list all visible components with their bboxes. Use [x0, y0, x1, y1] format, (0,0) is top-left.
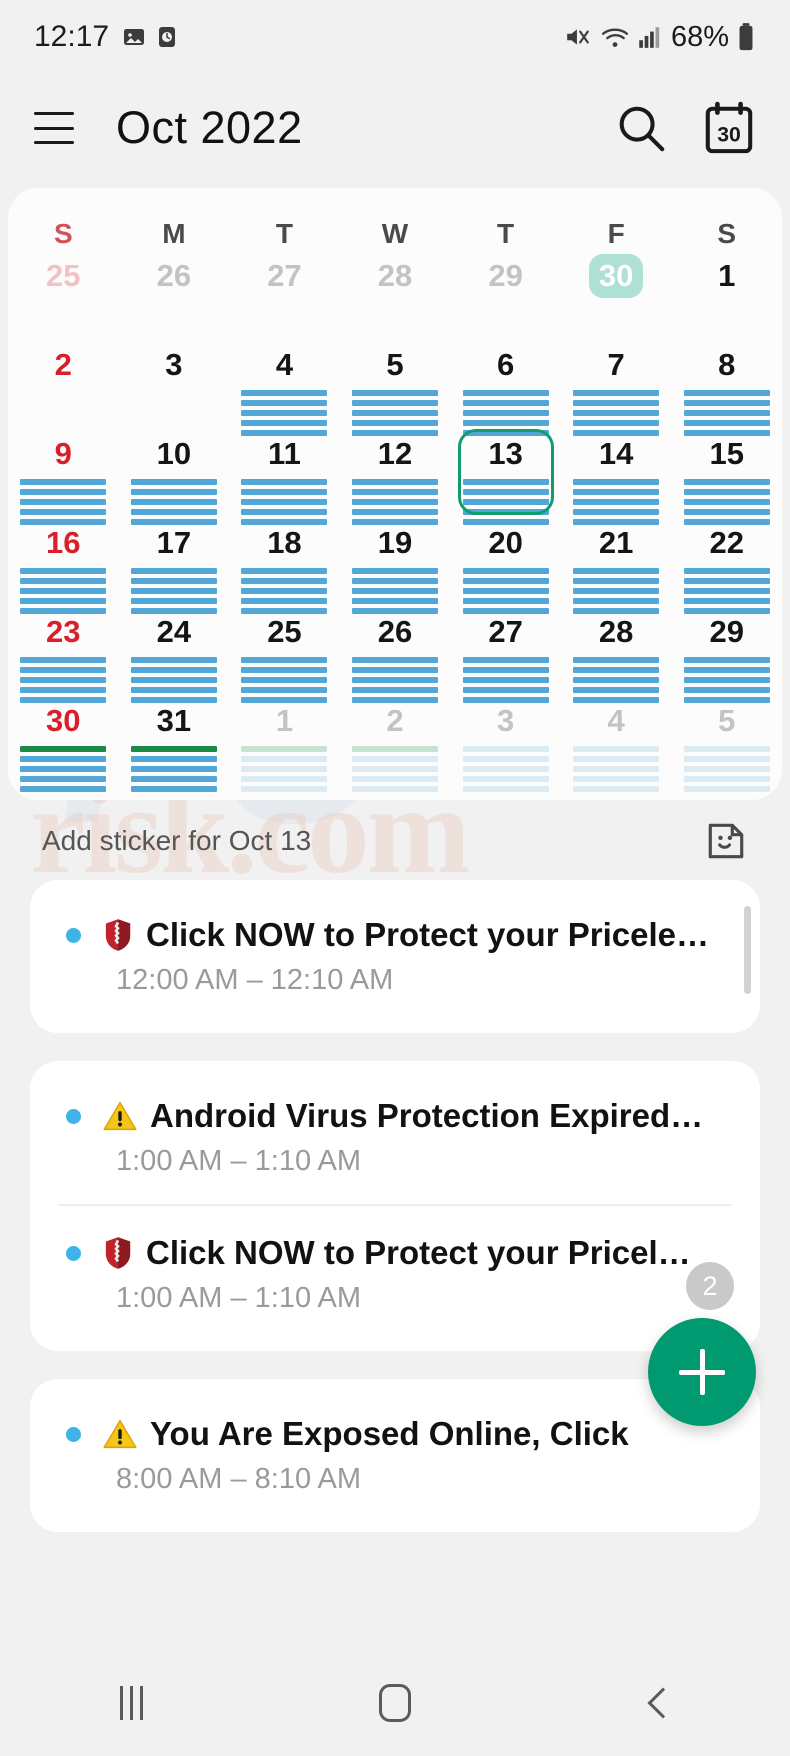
calendar-day-number: 3: [147, 343, 201, 387]
calendar-day-cell[interactable]: 30: [8, 695, 119, 784]
weekday-header: M: [119, 218, 230, 250]
calendar-day-number: 16: [36, 521, 90, 565]
calendar-day-cell[interactable]: 5: [671, 695, 782, 784]
calendar-day-cell[interactable]: 26: [119, 250, 230, 339]
event-bar: [573, 509, 659, 515]
event-bar: [20, 756, 106, 762]
calendar-day-number: 17: [147, 521, 201, 565]
event-bar: [352, 766, 438, 772]
event-bar: [684, 390, 770, 396]
event-bar: [241, 420, 327, 426]
shield-emoji: [103, 918, 133, 952]
calendar-day-number: 27: [479, 610, 533, 654]
calendar-day-number: 2: [368, 699, 422, 743]
calendar-app-screen: PC risk.com 12:17: [0, 0, 790, 1756]
app-header: Oct 2022 30: [0, 74, 790, 182]
event-bar: [20, 489, 106, 495]
event-bar: [463, 578, 549, 584]
event-bar: [463, 420, 549, 426]
calendar-day-cell[interactable]: 18: [229, 517, 340, 606]
calendar-day-cell[interactable]: 27: [229, 250, 340, 339]
calendar-week-row: 2526272829301: [8, 250, 782, 339]
event-bar: [20, 786, 106, 792]
calendar-week-row: 9101112131415: [8, 428, 782, 517]
shield-emoji: [103, 1236, 133, 1270]
event-bar: [241, 667, 327, 673]
event-bar: [241, 746, 327, 752]
calendar-day-number: 14: [589, 432, 643, 476]
calendar-day-cell[interactable]: 15: [671, 428, 782, 517]
event-bar: [241, 479, 327, 485]
event-bar: [463, 756, 549, 762]
calendar-day-number: 7: [589, 343, 643, 387]
weekday-header: F: [561, 218, 672, 250]
weekday-header-row: SMTWTFS: [8, 218, 782, 250]
event-bar: [573, 499, 659, 505]
calendar-day-cell[interactable]: 31: [119, 695, 230, 784]
sticker-icon[interactable]: [704, 819, 748, 863]
calendar-day-cell[interactable]: 28: [561, 606, 672, 695]
calendar-day-cell[interactable]: 4: [561, 695, 672, 784]
event-bar: [684, 499, 770, 505]
event-bar: [131, 766, 217, 772]
event-bar: [463, 598, 549, 604]
event-bar: [131, 677, 217, 683]
event-bar: [573, 410, 659, 416]
calendar-day-cell[interactable]: 26: [340, 606, 451, 695]
event-title: Click NOW to Protect your Pricele…: [146, 916, 709, 954]
event-bar: [463, 667, 549, 673]
calendar-day-cell[interactable]: 7: [561, 339, 672, 428]
battery-percent: 68%: [671, 21, 729, 54]
event-bar: [241, 766, 327, 772]
event-time-range: 8:00 AM – 8:10 AM: [116, 1463, 724, 1496]
event-bar: [20, 578, 106, 584]
event-bar: [684, 420, 770, 426]
event-bar: [463, 410, 549, 416]
month-calendar-card[interactable]: SMTWTFS 25262728293012345678910111213141…: [8, 188, 782, 800]
event-title-row: Click NOW to Protect your Pricel…: [66, 1234, 724, 1272]
event-bar: [684, 568, 770, 574]
calendar-day-cell[interactable]: 2: [8, 339, 119, 428]
calendar-day-cell[interactable]: 25: [229, 606, 340, 695]
calendar-day-cell[interactable]: 27: [450, 606, 561, 695]
home-button[interactable]: [335, 1650, 455, 1756]
calendar-day-cell[interactable]: 21: [561, 517, 672, 606]
calendar-day-cell[interactable]: 11: [229, 428, 340, 517]
calendar-day-number: 4: [589, 699, 643, 743]
calendar-day-number: 26: [147, 254, 201, 298]
calendar-day-number: 30: [589, 254, 643, 298]
event-bar: [241, 499, 327, 505]
event-bar: [241, 568, 327, 574]
weekday-header: T: [450, 218, 561, 250]
calendar-day-number: 29: [700, 610, 754, 654]
wifi-icon: [600, 24, 630, 50]
calendar-day-number: 1: [257, 699, 311, 743]
calendar-day-cell[interactable]: 17: [119, 517, 230, 606]
calendar-day-number: 31: [147, 699, 201, 743]
event-bar: [352, 677, 438, 683]
event-bar: [684, 578, 770, 584]
event-bar: [241, 786, 327, 792]
event-count-badge: 2: [686, 1262, 734, 1310]
event-bar: [131, 687, 217, 693]
event-bar: [684, 479, 770, 485]
event-card[interactable]: You Are Exposed Online, Click8:00 AM – 8…: [30, 1379, 760, 1532]
calendar-day-number: 28: [589, 610, 643, 654]
event-bar: [573, 390, 659, 396]
event-title-row: Click NOW to Protect your Pricele…: [66, 916, 724, 954]
event-time-range: 1:00 AM – 1:10 AM: [116, 1282, 724, 1315]
event-color-dot: [66, 1109, 81, 1124]
calendar-day-number: 20: [479, 521, 533, 565]
calendar-day-number: 24: [147, 610, 201, 654]
event-color-dot: [66, 1427, 81, 1442]
event-bar: [463, 746, 549, 752]
event-bar: [463, 479, 549, 485]
image-icon: [122, 24, 146, 50]
event-bar: [684, 667, 770, 673]
calendar-day-number: 9: [36, 432, 90, 476]
event-bar: [352, 499, 438, 505]
event-bar: [684, 746, 770, 752]
event-title-row: Android Virus Protection Expired…: [66, 1097, 724, 1135]
warning-emoji: [103, 1100, 137, 1133]
event-bar: [684, 766, 770, 772]
day-event-bars: [20, 746, 106, 792]
event-bar: [684, 588, 770, 594]
calendar-day-number: 5: [700, 699, 754, 743]
calendar-day-number: 11: [257, 432, 311, 476]
calendar-day-number: 29: [479, 254, 533, 298]
event-bar: [352, 598, 438, 604]
event-bar: [463, 499, 549, 505]
event-bar: [241, 776, 327, 782]
event-bar: [20, 568, 106, 574]
event-bar: [352, 410, 438, 416]
calendar-day-cell[interactable]: 24: [119, 606, 230, 695]
event-time-range: 1:00 AM – 1:10 AM: [116, 1145, 724, 1178]
event-list-item[interactable]: Android Virus Protection Expired…1:00 AM…: [30, 1069, 760, 1204]
calendar-day-cell[interactable]: 1: [671, 250, 782, 339]
event-bar: [573, 400, 659, 406]
page-title: Oct 2022: [116, 102, 303, 154]
event-card-scrollbar[interactable]: [744, 906, 751, 994]
event-bar: [131, 499, 217, 505]
event-bar: [463, 786, 549, 792]
event-bar: [20, 588, 106, 594]
calendar-day-cell[interactable]: 3: [119, 339, 230, 428]
event-bar: [684, 489, 770, 495]
event-title: You Are Exposed Online, Click: [150, 1415, 629, 1453]
event-bar: [241, 588, 327, 594]
calendar-day-number: 2: [36, 343, 90, 387]
calendar-day-number: 30: [36, 699, 90, 743]
calendar-day-cell[interactable]: 8: [671, 339, 782, 428]
today-calendar-icon[interactable]: 30: [702, 101, 756, 155]
event-bar: [241, 390, 327, 396]
event-list-item[interactable]: Click NOW to Protect your Pricele…12:00 …: [30, 888, 760, 1023]
calendar-day-number: 6: [479, 343, 533, 387]
event-bar: [463, 489, 549, 495]
status-system-icons: 68%: [563, 21, 756, 54]
event-bar: [131, 657, 217, 663]
warning-icon: [103, 1418, 137, 1450]
event-bar: [20, 499, 106, 505]
warning-emoji: [103, 1418, 137, 1451]
event-bar: [352, 756, 438, 762]
event-bar: [20, 667, 106, 673]
calendar-day-number: 5: [368, 343, 422, 387]
event-bar: [20, 509, 106, 515]
calendar-day-number: 27: [257, 254, 311, 298]
hamburger-icon[interactable]: [34, 112, 74, 144]
event-bar: [573, 568, 659, 574]
event-bar: [131, 509, 217, 515]
weekday-header: T: [229, 218, 340, 250]
event-bar: [684, 677, 770, 683]
event-bar: [463, 568, 549, 574]
event-bar: [573, 786, 659, 792]
calendar-day-number: 19: [368, 521, 422, 565]
calendar-day-cell[interactable]: 1: [229, 695, 340, 784]
calendar-day-number: 21: [589, 521, 643, 565]
event-bar: [573, 588, 659, 594]
event-bar: [352, 578, 438, 584]
event-title: Android Virus Protection Expired…: [150, 1097, 703, 1135]
event-bar: [573, 578, 659, 584]
event-bar: [241, 677, 327, 683]
recents-button[interactable]: [72, 1650, 192, 1756]
day-event-bars: [352, 746, 438, 792]
weekday-header: S: [671, 218, 782, 250]
calendar-day-number: 4: [257, 343, 311, 387]
event-list-item[interactable]: You Are Exposed Online, Click8:00 AM – 8…: [30, 1387, 760, 1522]
calendar-day-cell[interactable]: 29: [450, 250, 561, 339]
calendar-day-cell[interactable]: 10: [119, 428, 230, 517]
back-button[interactable]: [598, 1650, 718, 1756]
calendar-day-cell[interactable]: 13: [450, 428, 561, 517]
calendar-day-number: 25: [257, 610, 311, 654]
calendar-day-cell[interactable]: 19: [340, 517, 451, 606]
event-bar: [463, 677, 549, 683]
event-bar: [241, 578, 327, 584]
event-bar: [463, 657, 549, 663]
event-color-dot: [66, 1246, 81, 1261]
calendar-day-cell[interactable]: 3: [450, 695, 561, 784]
event-bar: [463, 400, 549, 406]
event-bar: [684, 687, 770, 693]
event-bar: [573, 479, 659, 485]
event-bar: [352, 786, 438, 792]
search-icon[interactable]: [614, 101, 668, 155]
calendar-day-number: 25: [36, 254, 90, 298]
event-bar: [463, 687, 549, 693]
status-time: 12:17: [34, 20, 109, 54]
event-bar: [684, 410, 770, 416]
calendar-weeks[interactable]: 2526272829301234567891011121314151617181…: [8, 250, 782, 784]
event-list-item[interactable]: Click NOW to Protect your Pricel…1:00 AM…: [30, 1206, 760, 1341]
event-bar: [241, 657, 327, 663]
event-bar: [352, 479, 438, 485]
event-bar: [352, 420, 438, 426]
event-bar: [684, 756, 770, 762]
calendar-day-cell[interactable]: 9: [8, 428, 119, 517]
calendar-week-row: 303112345: [8, 695, 782, 784]
status-bar: 12:17: [0, 0, 790, 74]
event-bar: [352, 657, 438, 663]
calendar-day-number: 10: [147, 432, 201, 476]
recents-icon: [120, 1686, 143, 1720]
calendar-day-cell[interactable]: 22: [671, 517, 782, 606]
event-bar: [131, 756, 217, 762]
event-bar: [684, 786, 770, 792]
day-event-bars: [463, 746, 549, 792]
event-bar: [241, 598, 327, 604]
calendar-day-number: 3: [479, 699, 533, 743]
event-bar: [573, 756, 659, 762]
event-bar: [684, 598, 770, 604]
event-list[interactable]: Click NOW to Protect your Pricele…12:00 …: [30, 880, 760, 1560]
event-bar: [352, 489, 438, 495]
event-bar: [352, 667, 438, 673]
add-sticker-label: Add sticker for Oct 13: [42, 825, 311, 857]
day-event-bars: [241, 746, 327, 792]
calendar-day-cell[interactable]: 25: [8, 250, 119, 339]
calendar-day-cell[interactable]: 28: [340, 250, 451, 339]
event-bar: [131, 776, 217, 782]
event-bar: [20, 687, 106, 693]
signal-icon: [637, 24, 661, 50]
calendar-day-cell[interactable]: 20: [450, 517, 561, 606]
shield-icon: [103, 918, 133, 952]
status-notification-icons: [122, 24, 179, 50]
calendar-day-number: 28: [368, 254, 422, 298]
event-card[interactable]: Click NOW to Protect your Pricele…12:00 …: [30, 880, 760, 1033]
event-bar: [463, 390, 549, 396]
calendar-day-cell[interactable]: 29: [671, 606, 782, 695]
event-bar: [684, 400, 770, 406]
event-bar: [20, 766, 106, 772]
weekday-header: S: [8, 218, 119, 250]
event-bar: [20, 598, 106, 604]
event-bar: [131, 667, 217, 673]
event-bar: [131, 588, 217, 594]
mute-icon: [563, 24, 593, 50]
calendar-week-row: 23242526272829: [8, 606, 782, 695]
calendar-week-row: 16171819202122: [8, 517, 782, 606]
event-bar: [352, 509, 438, 515]
event-card[interactable]: Android Virus Protection Expired…1:00 AM…: [30, 1061, 760, 1351]
event-bar: [352, 568, 438, 574]
calendar-day-cell[interactable]: 23: [8, 606, 119, 695]
calendar-day-cell[interactable]: 30: [561, 250, 672, 339]
calendar-day-cell[interactable]: 5: [340, 339, 451, 428]
event-bar: [463, 766, 549, 772]
calendar-day-cell[interactable]: 16: [8, 517, 119, 606]
event-bar: [131, 479, 217, 485]
warning-icon: [103, 1100, 137, 1132]
event-title-row: You Are Exposed Online, Click: [66, 1415, 724, 1453]
event-bar: [573, 657, 659, 663]
event-bar: [352, 776, 438, 782]
event-time-range: 12:00 AM – 12:10 AM: [116, 964, 724, 997]
event-bar: [573, 766, 659, 772]
event-bar: [352, 390, 438, 396]
calendar-day-number: 1: [700, 254, 754, 298]
calendar-week-row: 2345678: [8, 339, 782, 428]
event-bar: [463, 588, 549, 594]
event-bar: [684, 776, 770, 782]
event-bar: [20, 677, 106, 683]
event-bar: [131, 746, 217, 752]
event-bar: [131, 786, 217, 792]
calendar-day-number: 15: [700, 432, 754, 476]
today-icon-day: 30: [717, 124, 741, 147]
event-bar: [573, 746, 659, 752]
day-event-bars: [131, 746, 217, 792]
add-event-fab[interactable]: [648, 1318, 756, 1426]
event-bar: [131, 568, 217, 574]
event-bar: [573, 776, 659, 782]
event-bar: [573, 598, 659, 604]
calendar-day-number: 8: [700, 343, 754, 387]
battery-icon: [736, 22, 756, 52]
calendar-day-cell[interactable]: 14: [561, 428, 672, 517]
home-icon: [379, 1684, 411, 1722]
event-bar: [241, 410, 327, 416]
calendar-day-number: 26: [368, 610, 422, 654]
shield-icon: [103, 1236, 133, 1270]
calendar-day-number: 12: [368, 432, 422, 476]
calendar-day-number: 22: [700, 521, 754, 565]
day-event-bars: [573, 746, 659, 792]
event-bar: [352, 400, 438, 406]
event-bar: [241, 400, 327, 406]
android-nav-bar: [0, 1650, 790, 1756]
calendar-day-cell[interactable]: 6: [450, 339, 561, 428]
event-bar: [352, 687, 438, 693]
event-bar: [20, 776, 106, 782]
event-bar: [20, 657, 106, 663]
event-bar: [241, 509, 327, 515]
event-bar: [573, 489, 659, 495]
event-color-dot: [66, 928, 81, 943]
event-bar: [20, 746, 106, 752]
calendar-day-cell[interactable]: 2: [340, 695, 451, 784]
event-bar: [573, 687, 659, 693]
event-bar: [131, 598, 217, 604]
event-bar: [241, 756, 327, 762]
clock-icon: [155, 24, 179, 50]
add-sticker-row[interactable]: Add sticker for Oct 13: [0, 810, 790, 872]
event-bar: [684, 657, 770, 663]
event-bar: [463, 509, 549, 515]
calendar-day-cell[interactable]: 4: [229, 339, 340, 428]
event-bar: [684, 509, 770, 515]
event-bar: [131, 489, 217, 495]
event-bar: [131, 578, 217, 584]
event-bar: [463, 776, 549, 782]
weekday-header: W: [340, 218, 451, 250]
calendar-day-cell[interactable]: 12: [340, 428, 451, 517]
calendar-day-number: 18: [257, 521, 311, 565]
event-bar: [352, 746, 438, 752]
calendar-day-number: 23: [36, 610, 90, 654]
event-bar: [573, 667, 659, 673]
day-event-bars: [684, 746, 770, 792]
